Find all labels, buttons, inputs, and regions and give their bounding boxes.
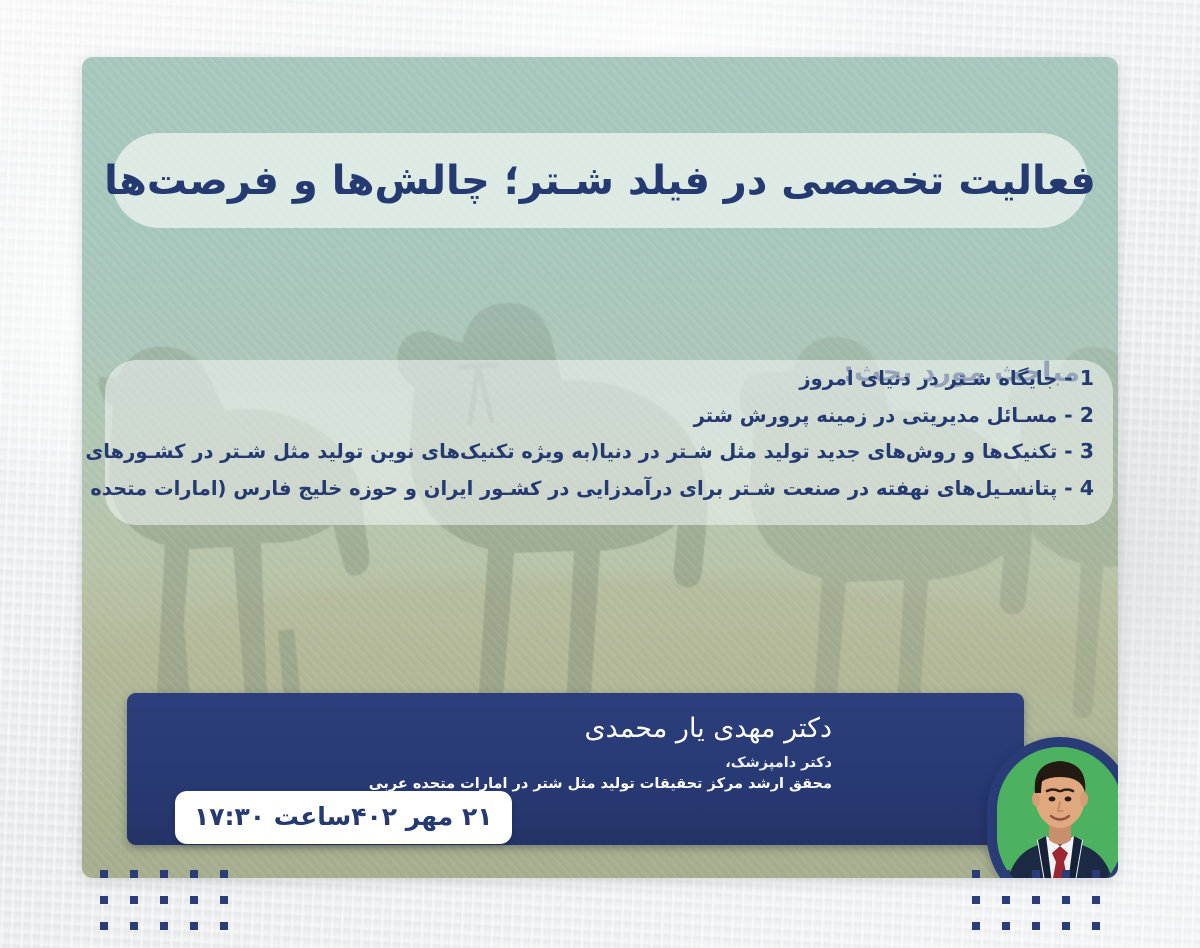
dot [972, 922, 980, 930]
topic-text: مسـائل مدیریتی در زمینه پرورش شتر [694, 404, 1058, 427]
topic-item: 3 - تکنیک‌ها و روش‌های جدید تولید مثل شـ… [106, 438, 1094, 466]
poster-card: فعالیت تخصصی در فیلد شـتر؛ چالش‌ها و فرص… [82, 57, 1118, 878]
dot [972, 870, 980, 878]
dot [190, 896, 198, 904]
topic-item: 4 - پتانسـیل‌های نهفته در صنعت شـتر برای… [106, 475, 1094, 503]
poster-title-pill: فعالیت تخصصی در فیلد شـتر؛ چالش‌ها و فرص… [112, 133, 1088, 228]
footer-bar: ۲۱ مهر ۴۰۲ساعت ۱۷:۳۰ دکتر مهدی یار محمدی… [127, 693, 1024, 845]
poster-page: فعالیت تخصصی در فیلد شـتر؛ چالش‌ها و فرص… [0, 0, 1200, 948]
poster-title: فعالیت تخصصی در فیلد شـتر؛ چالش‌ها و فرص… [104, 158, 1096, 204]
dot [1032, 922, 1040, 930]
topic-number: 2 - [1064, 403, 1094, 427]
dot [130, 896, 138, 904]
dot [1092, 870, 1100, 878]
dot [100, 870, 108, 878]
topic-number: 4 - [1064, 476, 1094, 500]
topics-list: 1 - جایگاه شـتر در دنیای امروز 2 - مسـائ… [106, 365, 1094, 503]
dot [220, 870, 228, 878]
dot [130, 870, 138, 878]
dot [190, 870, 198, 878]
speaker-name: دکتر مهدی یار محمدی [369, 712, 832, 746]
dot [130, 922, 138, 930]
topic-item: 1 - جایگاه شـتر در دنیای امروز [106, 365, 1094, 393]
event-date-time: ۲۱ مهر ۴۰۲ساعت ۱۷:۳۰ [194, 802, 493, 831]
topic-number: 1 - [1064, 366, 1094, 390]
topic-text: جایگاه شـتر در دنیای امروز [799, 367, 1057, 390]
decorative-dot-grid-right [972, 870, 1100, 930]
speaker-info: دکتر مهدی یار محمدی دکتر دامپزشک، محقق ا… [369, 712, 832, 792]
avatar [997, 747, 1118, 878]
dot [1092, 922, 1100, 930]
dot [190, 922, 198, 930]
dot [1032, 870, 1040, 878]
dot [1062, 922, 1070, 930]
dot [160, 870, 168, 878]
dot [1092, 896, 1100, 904]
dot [972, 896, 980, 904]
dot [1062, 870, 1070, 878]
dot [100, 896, 108, 904]
speaker-affiliation: محقق ارشد مرکز تحقیقات تولید مثل شتر در … [369, 776, 832, 792]
avatar-frame [987, 737, 1118, 878]
dot [160, 922, 168, 930]
dot [1002, 896, 1010, 904]
decorative-dot-grid-left [100, 870, 228, 930]
dot [160, 896, 168, 904]
topic-text: پتانسـیل‌های نهفته در صنعت شـتر برای درآ… [82, 477, 1057, 500]
speaker-role: دکتر دامپزشک، [369, 755, 832, 771]
topic-item: 2 - مسـائل مدیریتی در زمینه پرورش شتر [106, 402, 1094, 430]
topic-text: تکنیک‌ها و روش‌های جدید تولید مثل شـتر د… [82, 440, 1057, 463]
event-date-badge: ۲۱ مهر ۴۰۲ساعت ۱۷:۳۰ [175, 791, 512, 844]
dot [1002, 922, 1010, 930]
dot [220, 896, 228, 904]
dot [1002, 870, 1010, 878]
dot [220, 922, 228, 930]
dot [1062, 896, 1070, 904]
topic-number: 3 - [1064, 439, 1094, 463]
dot [1032, 896, 1040, 904]
dot [100, 922, 108, 930]
